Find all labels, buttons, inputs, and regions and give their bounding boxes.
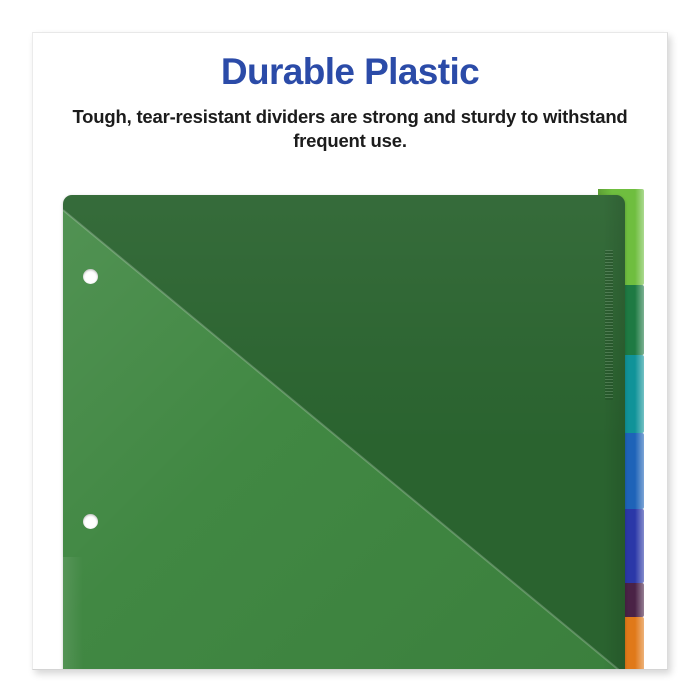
product-image-canvas: Durable Plastic Tough, tear-resistant di… [0, 0, 700, 700]
diagonal-pocket [63, 195, 625, 670]
subtitle-text: Tough, tear-resistant dividers are stron… [70, 105, 630, 154]
green-pocket-divider [63, 195, 625, 670]
product-card: Durable Plastic Tough, tear-resistant di… [32, 32, 668, 670]
binder-hole-bottom [83, 514, 98, 529]
page-title: Durable Plastic [33, 51, 667, 94]
binder-hole-top [83, 269, 98, 284]
product-photo [33, 153, 668, 670]
bottom-left-fold [63, 557, 83, 670]
headline-block: Durable Plastic Tough, tear-resistant di… [33, 51, 667, 154]
right-edge-fold [603, 195, 625, 670]
